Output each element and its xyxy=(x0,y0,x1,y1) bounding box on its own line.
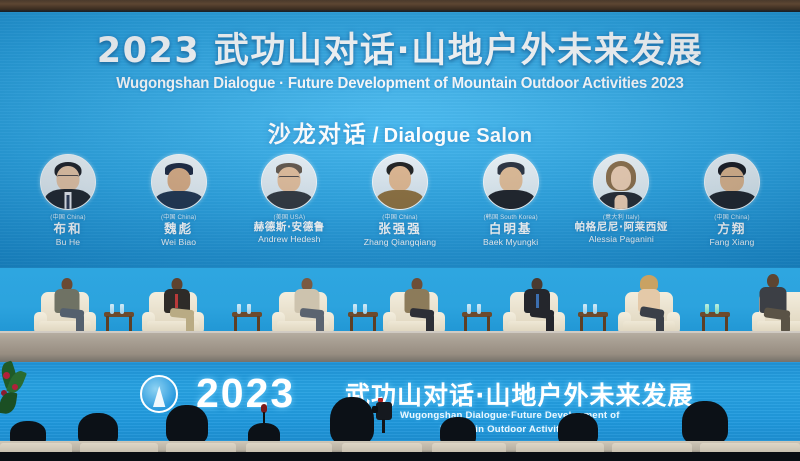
panelist-card: (中国 China) 魏彪 Wei Biao xyxy=(127,154,231,248)
panelist-card: (韩国 South Korea) 白明基 Baek Myungki xyxy=(459,154,563,248)
seated-panelist xyxy=(628,278,670,338)
panelist-name-cn: 方翔 xyxy=(680,221,784,237)
water-bottle xyxy=(477,304,481,314)
avatar-body xyxy=(155,191,203,210)
session-title-cn: 沙龙对话 xyxy=(268,122,368,148)
avatar-body xyxy=(707,191,756,210)
seated-panelist xyxy=(396,278,438,338)
audience-head xyxy=(682,401,728,445)
panelist-country: (中国 China) xyxy=(127,212,231,221)
panelist-country: (中国 China) xyxy=(348,212,452,221)
audience-area xyxy=(0,400,800,461)
session-subtitle: 沙龙对话/Dialogue Salon xyxy=(0,115,800,149)
audience-front-row xyxy=(0,452,800,461)
water-bottle xyxy=(705,304,709,314)
water-bottle xyxy=(593,304,597,314)
water-bottle xyxy=(247,304,251,314)
panelist-country: (意大利 Italy) xyxy=(569,212,673,221)
avatar xyxy=(593,154,649,210)
avatar-head xyxy=(167,168,190,192)
audience-head xyxy=(330,397,374,445)
flower xyxy=(3,372,10,379)
water-bottle xyxy=(467,304,471,314)
avatar-neckline xyxy=(615,195,628,209)
person-head xyxy=(767,274,779,288)
avatar-tie xyxy=(67,195,70,209)
panelist-name-en: Zhang Qiangqiang xyxy=(348,237,452,248)
avatar xyxy=(151,154,207,210)
session-title-en: Dialogue Salon xyxy=(384,125,533,147)
conference-stage-photo: 2023 武功山对话·山地户外未来发展 Wugongshan Dialogue … xyxy=(0,0,800,461)
water-bottle xyxy=(110,304,114,314)
panelist-card: (中国 China) 布和 Bu He xyxy=(16,154,120,248)
panelist-name-en: Baek Myungki xyxy=(459,237,563,248)
seated-panelist xyxy=(156,278,198,338)
seated-panelist xyxy=(752,276,794,338)
avatar-glasses xyxy=(720,176,743,181)
panelist-country: (韩国 South Korea) xyxy=(459,212,563,221)
water-bottle xyxy=(583,304,587,314)
avatar-glasses xyxy=(57,175,79,180)
panelist-country: (中国 China) xyxy=(680,212,784,221)
audience-head xyxy=(166,405,208,445)
panelist-name-en: Andrew Hedesh xyxy=(237,234,341,245)
panelist-name-en: Wei Biao xyxy=(127,237,231,248)
avatar-body xyxy=(266,191,313,210)
panelist-name-en: Alessia Paganini xyxy=(569,234,673,245)
panelist-list: (中国 China) 布和 Bu He (中国 China) 魏彪 Wei Bi… xyxy=(16,154,784,266)
panelist-name-cn: 帕格尼尼·阿莱西娅 xyxy=(569,221,673,234)
event-title-cn: 2023 武功山对话·山地户外未来发展 xyxy=(0,32,800,71)
avatar-glasses xyxy=(279,176,300,181)
water-bottle xyxy=(353,304,357,314)
person-lanyard xyxy=(536,294,539,308)
main-led-screen: 2023 武功山对话·山地户外未来发展 Wugongshan Dialogue … xyxy=(0,12,800,270)
seated-panelist xyxy=(286,278,328,338)
avatar xyxy=(372,154,428,210)
seated-panelist xyxy=(516,278,558,338)
person-lanyard xyxy=(175,294,178,308)
avatar-head xyxy=(389,166,411,191)
session-separator: / xyxy=(373,124,379,147)
panelist-country: (美国 USA) xyxy=(237,212,341,221)
avatar xyxy=(483,154,539,210)
event-title-en: Wugongshan Dialogue · Future Development… xyxy=(12,75,788,93)
seated-panelist xyxy=(46,278,88,338)
panelist-name-cn: 张强强 xyxy=(348,221,452,237)
avatar xyxy=(704,154,760,210)
panelist-name-en: Bu He xyxy=(16,237,120,248)
avatar xyxy=(261,154,317,210)
avatar-head xyxy=(499,167,522,192)
avatar-body xyxy=(376,190,423,210)
panelist-name-cn: 魏彪 xyxy=(127,221,231,237)
panelist-name-cn: 赫德斯·安德鲁 xyxy=(237,221,341,234)
stage-floor xyxy=(0,331,800,364)
avatar-body xyxy=(487,190,535,210)
panelist-country: (中国 China) xyxy=(16,212,120,221)
water-bottle xyxy=(120,304,124,314)
water-bottle xyxy=(237,304,241,314)
avatar-head xyxy=(611,166,631,190)
flower xyxy=(12,384,18,390)
panelist-card: (中国 China) 张强强 Zhang Qiangqiang xyxy=(348,154,452,248)
panelist-name-cn: 白明基 xyxy=(459,221,563,237)
panelist-card: (意大利 Italy) 帕格尼尼·阿莱西娅 Alessia Paganini xyxy=(569,154,673,245)
water-bottle xyxy=(363,304,367,314)
panelist-card: (中国 China) 方翔 Fang Xiang xyxy=(680,154,784,248)
water-bottle xyxy=(715,304,719,314)
event-title-block: 2023 武功山对话·山地户外未来发展 Wugongshan Dialogue … xyxy=(0,32,800,93)
panelist-card: (美国 USA) 赫德斯·安德鲁 Andrew Hedesh xyxy=(237,154,341,245)
stage-seating-area xyxy=(0,268,800,364)
panelist-name-cn: 布和 xyxy=(16,221,120,237)
panelist-name-en: Fang Xiang xyxy=(680,237,784,248)
avatar xyxy=(40,154,96,210)
